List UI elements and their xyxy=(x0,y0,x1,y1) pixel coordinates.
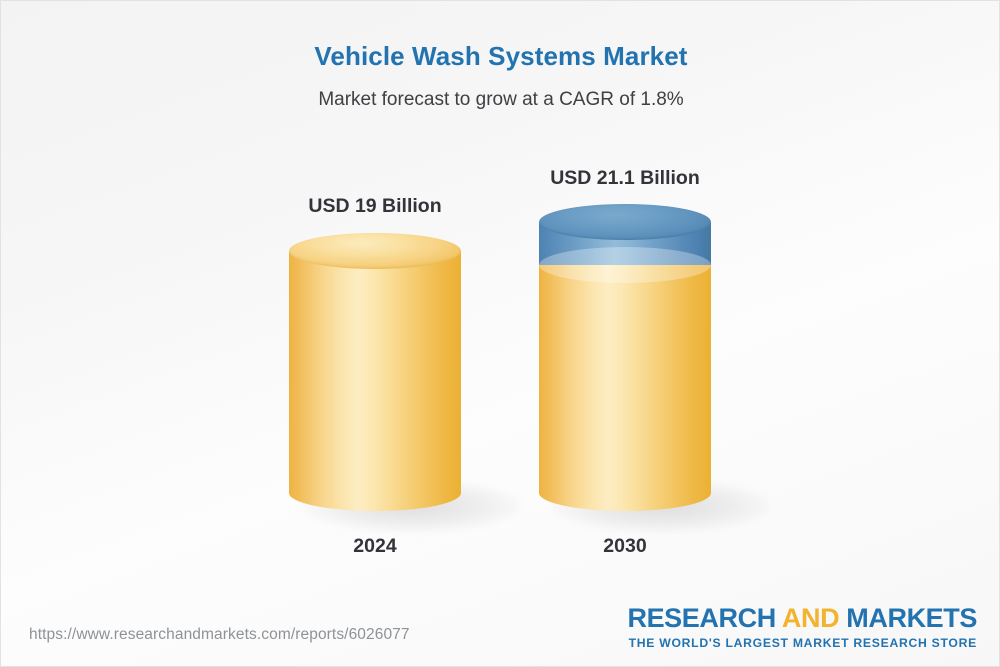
bar-top-cap-2030 xyxy=(539,204,711,240)
chart-title: Vehicle Wash Systems Market xyxy=(1,41,1000,72)
source-url[interactable]: https://www.researchandmarkets.com/repor… xyxy=(29,626,410,644)
brand-word-and: AND xyxy=(776,603,847,633)
bar-bottom-cap-2030 xyxy=(539,475,711,511)
chart-canvas: Vehicle Wash Systems Market Market forec… xyxy=(0,0,1000,667)
chart-subtitle: Market forecast to grow at a CAGR of 1.8… xyxy=(1,89,1000,111)
bar-body-2024 xyxy=(289,251,461,493)
brand-name: RESEARCH AND MARKETS xyxy=(627,605,977,633)
bar-bottom-cap-2024 xyxy=(289,475,461,511)
bar-segment-base-2030 xyxy=(539,265,711,493)
brand-tagline: THE WORLD'S LARGEST MARKET RESEARCH STOR… xyxy=(627,636,977,650)
bar-top-cap-2024 xyxy=(289,233,461,269)
brand-word-research: RESEARCH xyxy=(627,603,775,633)
bar-value-label-2030: USD 21.1 Billion xyxy=(465,167,785,190)
bar-segment-seam-2030 xyxy=(539,247,711,283)
bar-category-label-2030: 2030 xyxy=(465,535,785,558)
brand-logo[interactable]: RESEARCH AND MARKETS THE WORLD'S LARGEST… xyxy=(627,605,977,650)
bar-segment-base-2024 xyxy=(289,251,461,493)
bar-value-label-2024: USD 19 Billion xyxy=(215,195,535,218)
brand-word-markets: MARKETS xyxy=(846,603,977,633)
